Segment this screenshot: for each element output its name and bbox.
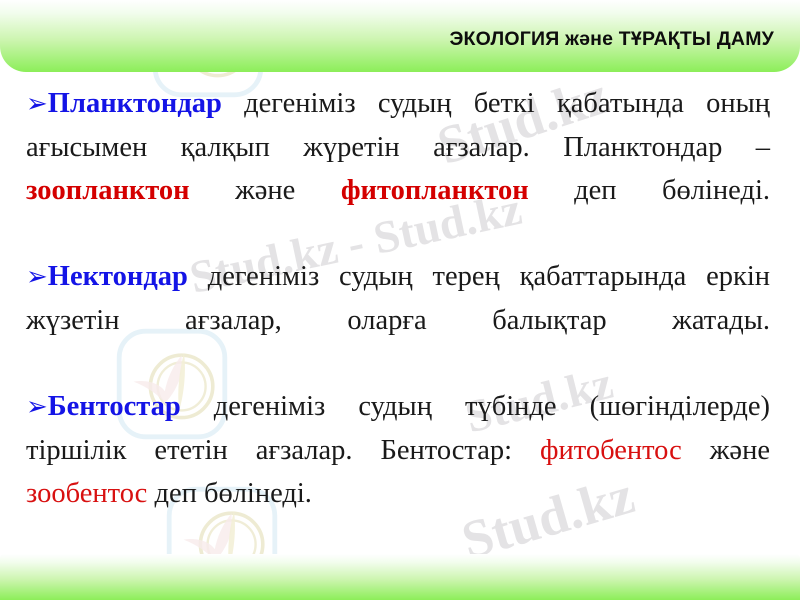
slide-body: ➢Планктондар дегеніміз судың беткі қабат…: [26, 82, 770, 515]
text-segment: деп бөлінеді.: [529, 175, 770, 206]
paragraph-nekton: ➢Нектондар дегеніміз судың терең қабатта…: [26, 255, 770, 385]
paragraph-benthos: ➢Бентостар дегеніміз судың түбінде (шөгі…: [26, 385, 770, 515]
text-segment: фитопланктон: [341, 175, 529, 206]
text-segment: және: [190, 175, 341, 206]
bullet-arrow-icon: ➢: [26, 392, 47, 422]
text-segment: фитобентос: [540, 435, 682, 466]
text-segment: деп бөлінеді.: [147, 478, 312, 509]
term-benthos: Бентостар: [48, 391, 181, 422]
text-segment: зообентос: [26, 478, 147, 509]
bullet-arrow-icon: ➢: [26, 262, 47, 292]
page-title: ЭКОЛОГИЯ және ТҰРАҚТЫ ДАМУ: [449, 28, 774, 51]
term-nekton: Нектондар: [48, 261, 188, 292]
footer-banner: [0, 554, 800, 600]
paragraph-plankton: ➢Планктондар дегеніміз судың беткі қабат…: [26, 82, 770, 255]
text-segment: және: [682, 435, 770, 466]
slide: Stud.kzStud.kzStud.kz - Stud.kzStud.kzSt…: [0, 0, 800, 600]
term-plankton: Планктондар: [48, 88, 222, 119]
bullet-arrow-icon: ➢: [26, 89, 47, 119]
text-segment: зоопланктон: [26, 175, 190, 206]
